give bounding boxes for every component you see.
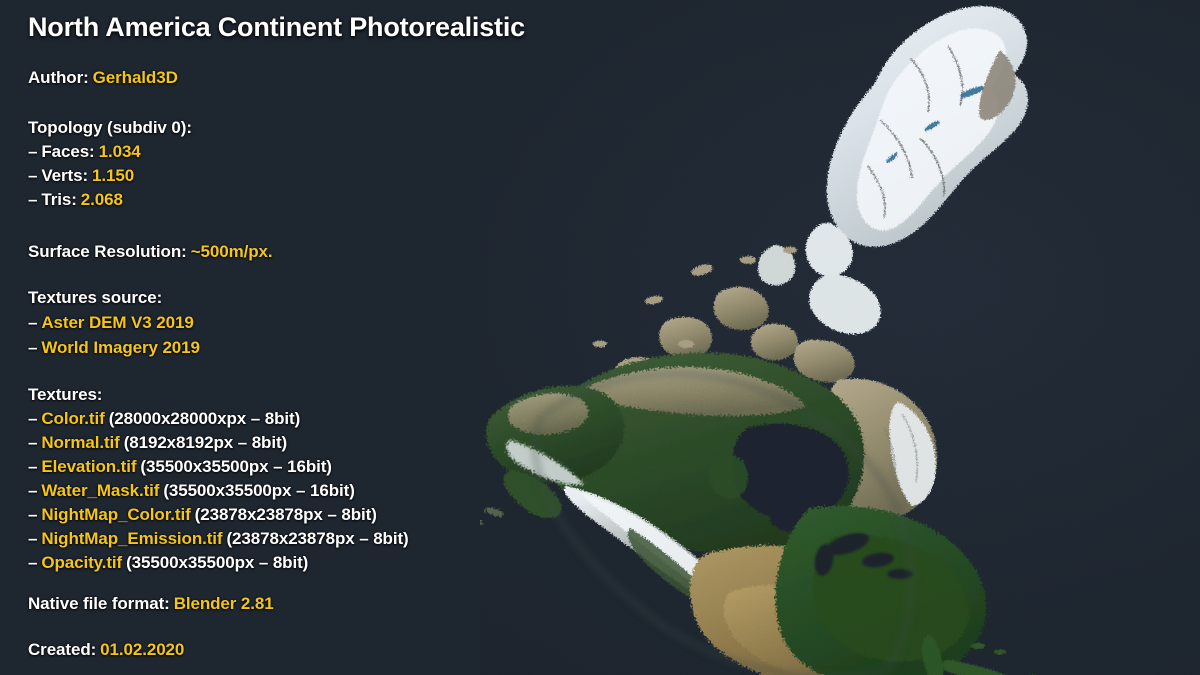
topology-verts-value: 1.150 <box>92 166 134 185</box>
texture-water-mask-spec: (35500x35500px – 16bit) <box>163 481 354 500</box>
list-dash: – <box>28 505 37 524</box>
list-dash: – <box>28 529 37 548</box>
created-line: Created:01.02.2020 <box>28 640 184 660</box>
texture-row-opacity: –Opacity.tif(35500x35500px – 8bit) <box>28 553 308 573</box>
textures-source-heading: Textures source: <box>28 288 162 308</box>
textures-source-row-aster: –Aster DEM V3 2019 <box>28 313 194 333</box>
texture-color-spec: (28000x28000xpx – 8bit) <box>109 409 300 428</box>
author-value: Gerhald3D <box>93 68 178 87</box>
texture-row-normal: –Normal.tif(8192x8192px – 8bit) <box>28 433 287 453</box>
list-dash: – <box>28 166 37 185</box>
texture-nightmap-color-name: NightMap_Color.tif <box>41 505 190 524</box>
surface-resolution-value: ~500m/px. <box>191 242 273 261</box>
texture-nightmap-emission-name: NightMap_Emission.tif <box>41 529 222 548</box>
created-label: Created: <box>28 640 96 659</box>
list-dash: – <box>28 338 37 357</box>
texture-color-name: Color.tif <box>41 409 104 428</box>
list-dash: – <box>28 142 37 161</box>
surface-resolution-line: Surface Resolution:~500m/px. <box>28 242 272 262</box>
topology-row-faces: –Faces:1.034 <box>28 142 141 162</box>
topology-tris-value: 2.068 <box>81 190 123 209</box>
texture-nightmap-color-spec: (23878x23878px – 8bit) <box>195 505 377 524</box>
native-file-format-line: Native file format:Blender 2.81 <box>28 594 274 614</box>
list-dash: – <box>28 313 37 332</box>
topology-faces-value: 1.034 <box>99 142 141 161</box>
list-dash: – <box>28 553 37 572</box>
texture-water-mask-name: Water_Mask.tif <box>41 481 159 500</box>
author-line: Author:Gerhald3D <box>28 68 178 88</box>
texture-elevation-spec: (35500x35500px – 16bit) <box>140 457 331 476</box>
page-title: North America Continent Photorealistic <box>28 12 525 43</box>
texture-row-elevation: –Elevation.tif(35500x35500px – 16bit) <box>28 457 332 477</box>
texture-normal-spec: (8192x8192px – 8bit) <box>124 433 287 452</box>
texture-row-nightmap-color: –NightMap_Color.tif(23878x23878px – 8bit… <box>28 505 377 525</box>
texture-opacity-name: Opacity.tif <box>41 553 122 572</box>
texture-row-nightmap-emission: –NightMap_Emission.tif(23878x23878px – 8… <box>28 529 409 549</box>
textures-source-row-world-imagery: –World Imagery 2019 <box>28 338 200 358</box>
topology-tris-label: Tris: <box>41 190 76 209</box>
texture-row-water-mask: –Water_Mask.tif(35500x35500px – 16bit) <box>28 481 355 501</box>
texture-row-color: –Color.tif(28000x28000xpx – 8bit) <box>28 409 300 429</box>
topology-row-verts: –Verts:1.150 <box>28 166 134 186</box>
topology-row-tris: –Tris:2.068 <box>28 190 123 210</box>
topology-heading: Topology (subdiv 0): <box>28 118 192 138</box>
textures-source-world-imagery-value: World Imagery 2019 <box>41 338 200 357</box>
list-dash: – <box>28 481 37 500</box>
texture-elevation-name: Elevation.tif <box>41 457 136 476</box>
list-dash: – <box>28 190 37 209</box>
texture-normal-name: Normal.tif <box>41 433 119 452</box>
textures-source-aster-value: Aster DEM V3 2019 <box>41 313 193 332</box>
list-dash: – <box>28 409 37 428</box>
poster-root: North America Continent Photorealistic A… <box>0 0 1200 675</box>
texture-opacity-spec: (35500x35500px – 8bit) <box>126 553 308 572</box>
topology-faces-label: Faces: <box>41 142 94 161</box>
native-file-format-label: Native file format: <box>28 594 170 613</box>
texture-nightmap-emission-spec: (23878x23878px – 8bit) <box>227 529 409 548</box>
author-label: Author: <box>28 68 89 87</box>
textures-heading: Textures: <box>28 385 102 405</box>
native-file-format-value: Blender 2.81 <box>174 594 274 613</box>
list-dash: – <box>28 457 37 476</box>
list-dash: – <box>28 433 37 452</box>
surface-resolution-label: Surface Resolution: <box>28 242 187 261</box>
info-panel: North America Continent Photorealistic A… <box>0 0 620 675</box>
created-value: 01.02.2020 <box>100 640 184 659</box>
topology-verts-label: Verts: <box>41 166 88 185</box>
